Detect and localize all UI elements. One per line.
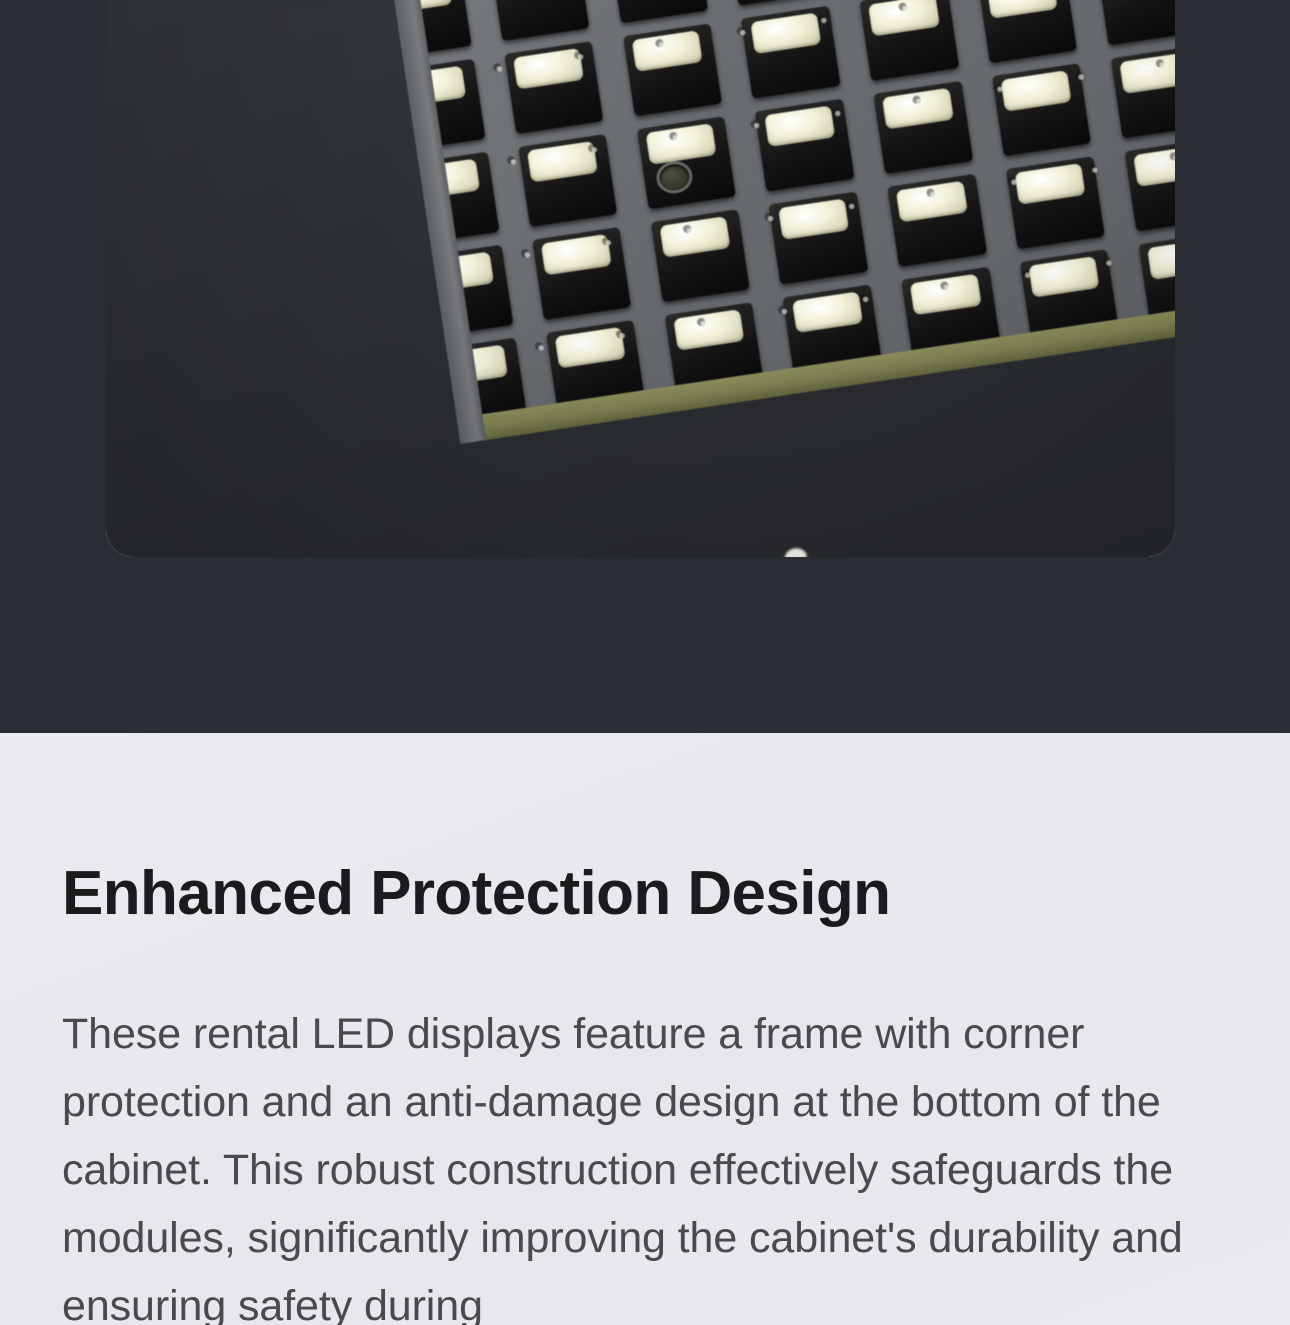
led-module-closeup-photo xyxy=(106,0,1175,557)
section-heading: Enhanced Protection Design xyxy=(62,863,890,925)
hero-section xyxy=(0,0,1290,733)
section-body-text: These rental LED displays feature a fram… xyxy=(62,1000,1212,1325)
led-module-image-card[interactable] xyxy=(106,0,1175,557)
photo-vignette xyxy=(106,0,1175,557)
page-root: Enhanced Protection Design These rental … xyxy=(0,0,1290,1325)
content-section: Enhanced Protection Design These rental … xyxy=(0,733,1290,1325)
